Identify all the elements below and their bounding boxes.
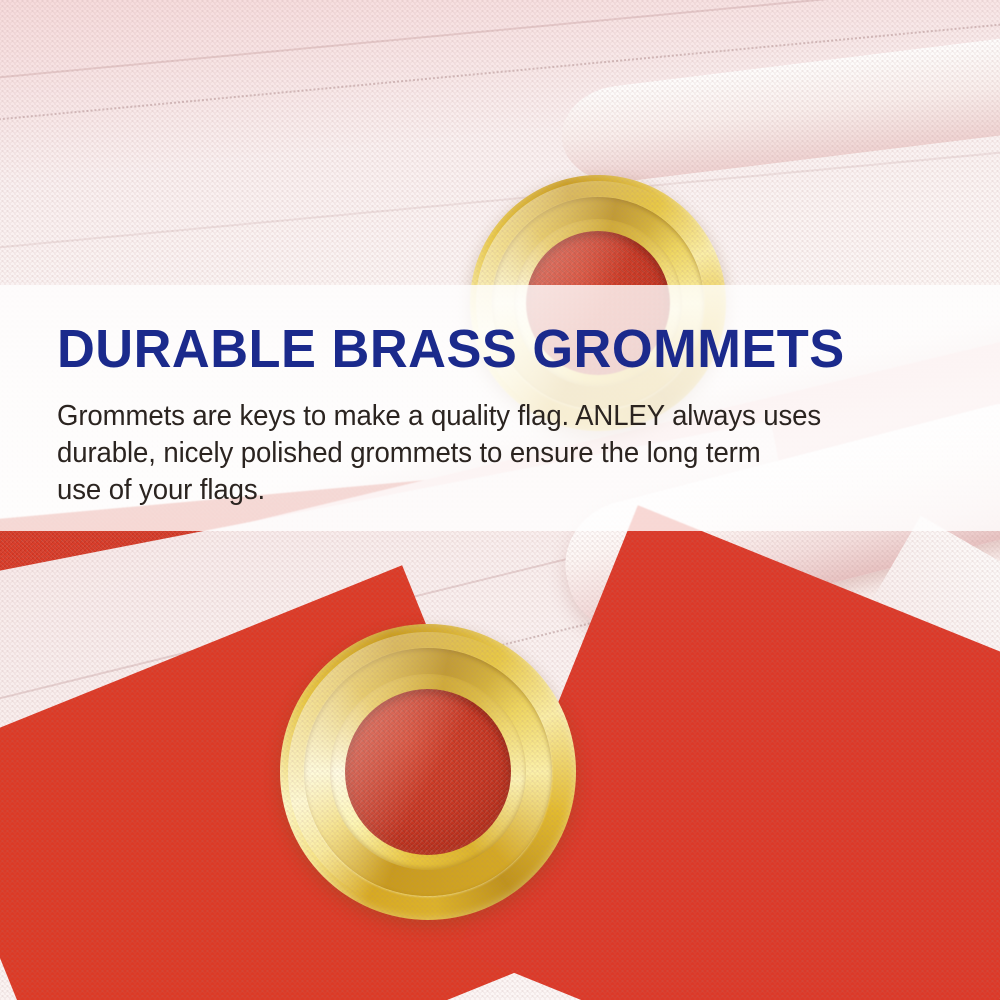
description-line-2: durable, nicely polished grommets to ens… bbox=[57, 435, 821, 472]
lower-grommet-red-fabric-hole bbox=[345, 689, 511, 855]
description-line-1: Grommets are keys to make a quality flag… bbox=[57, 398, 821, 435]
lower-grommet bbox=[280, 624, 576, 920]
description-text: Grommets are keys to make a quality flag… bbox=[57, 398, 821, 509]
product-image-canvas: DURABLE BRASS GROMMETS Grommets are keys… bbox=[0, 0, 1000, 1000]
description-line-3: use of your flags. bbox=[57, 472, 821, 509]
page-title: DURABLE BRASS GROMMETS bbox=[57, 322, 845, 376]
